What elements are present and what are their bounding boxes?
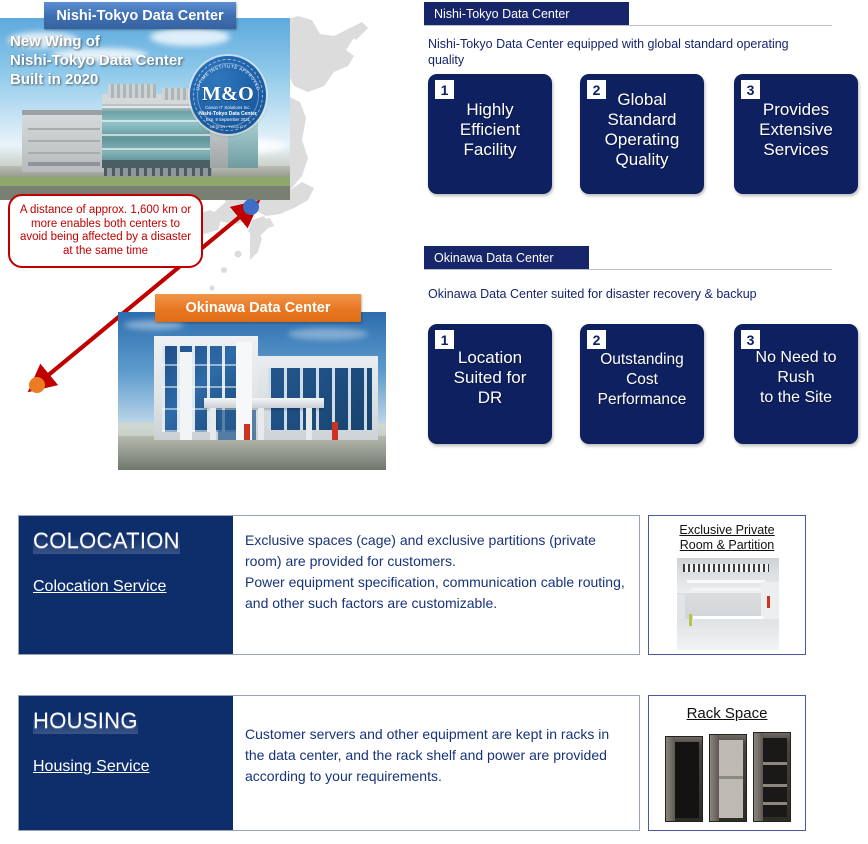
housing-image-caption: Rack Space (649, 706, 805, 721)
mo-certification-seal: UPTIME INSTITUTE APPROVED M&O Canon IT S… (190, 56, 266, 134)
colocation-image-card: Exclusive Private Room & Partition (648, 515, 806, 655)
feature-label: Highly Efficient Facility (428, 100, 552, 160)
feature-number: 1 (435, 330, 454, 349)
feature-label: Location Suited for DR (428, 348, 552, 408)
feature-number: 3 (741, 80, 760, 99)
service-left-block: COLOCATION Colocation Service (19, 516, 233, 654)
section-nishi-tokyo-description: Nishi-Tokyo Data Center equipped with gl… (428, 36, 828, 68)
section-tab-label: Okinawa Data Center (424, 246, 589, 270)
okinawa-map-dot (29, 377, 45, 393)
server-racks-photo (663, 732, 793, 824)
feature-label: No Need to Rush to the Site (734, 348, 858, 408)
seal-main-text: M&O (190, 84, 266, 104)
nishi-tokyo-building-photo: New Wing of Nishi-Tokyo Data Center Buil… (0, 18, 290, 200)
service-sub-title: Colocation Service (33, 578, 166, 596)
section-rule (424, 269, 832, 270)
service-body-text: Exclusive spaces (cage) and exclusive pa… (245, 530, 629, 614)
service-left-block: HOUSING Housing Service (19, 696, 233, 830)
feature-card-nt-1[interactable]: 1 Highly Efficient Facility (428, 74, 552, 194)
feature-number: 1 (435, 80, 454, 99)
housing-image-card: Rack Space (648, 695, 806, 831)
seal-line-3: Exp. 9 September 2021 (190, 117, 266, 123)
section-okinawa-header: Okinawa Data Center (424, 246, 832, 270)
feature-card-nt-3[interactable]: 3 Provides Extensive Services (734, 74, 858, 194)
okinawa-photo-title-tab: Okinawa Data Center (155, 294, 361, 322)
service-big-title: HOUSING (33, 708, 138, 734)
section-tab-label: Nishi-Tokyo Data Center (424, 2, 629, 26)
feature-card-nt-2[interactable]: 2 Global Standard Operating Quality (580, 74, 704, 194)
feature-number: 3 (741, 330, 760, 349)
feature-number: 2 (587, 330, 606, 349)
feature-card-ok-2[interactable]: 2 Outstanding Cost Performance (580, 324, 704, 444)
section-rule (424, 25, 832, 26)
section-nishi-tokyo-header: Nishi-Tokyo Data Center (424, 2, 832, 26)
feature-card-ok-3[interactable]: 3 No Need to Rush to the Site (734, 324, 858, 444)
nishi-tokyo-map-dot (243, 199, 259, 215)
service-body-text: Customer servers and other equipment are… (245, 724, 629, 787)
nishi-tokyo-photo-title-tab: Nishi-Tokyo Data Center (44, 2, 236, 29)
service-panel-housing: HOUSING Housing Service Customer servers… (18, 695, 640, 831)
feature-label: Provides Extensive Services (734, 100, 858, 160)
feature-card-ok-1[interactable]: 1 Location Suited for DR (428, 324, 552, 444)
feature-label: Outstanding Cost Performance (580, 350, 704, 410)
service-big-title: COLOCATION (33, 528, 180, 554)
seal-line-4: DESIGN / FACILITY (190, 124, 266, 129)
service-sub-title: Housing Service (33, 758, 150, 776)
server-room-photo (677, 558, 779, 650)
feature-label: Global Standard Operating Quality (580, 90, 704, 170)
distance-callout: A distance of approx. 1,600 km or more e… (8, 194, 203, 268)
okinawa-building-photo (118, 312, 386, 470)
colocation-image-caption: Exclusive Private Room & Partition (649, 523, 805, 553)
service-panel-colocation: COLOCATION Colocation Service Exclusive … (18, 515, 640, 655)
seal-line-1: Canon IT Solutions Inc. (190, 105, 266, 111)
section-okinawa-description: Okinawa Data Center suited for disaster … (428, 286, 828, 302)
